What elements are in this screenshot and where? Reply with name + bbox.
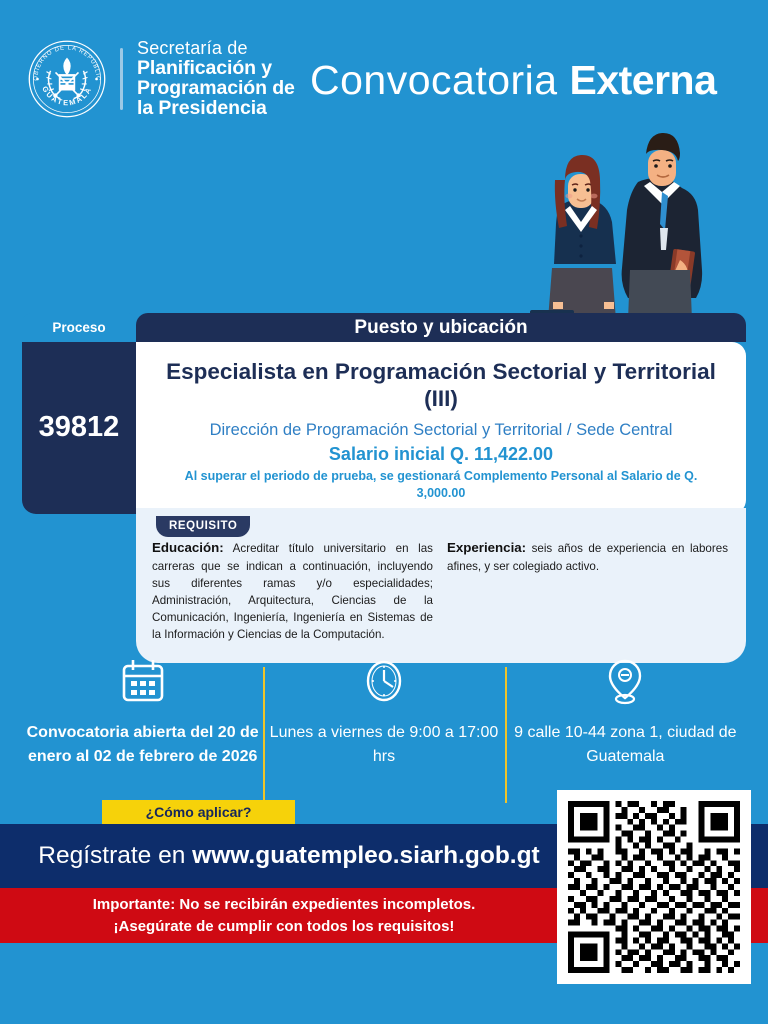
job-salary-note: Al superar el periodo de prueba, se gest…: [164, 468, 718, 502]
job-direction: Dirección de Programación Sectorial y Te…: [164, 421, 718, 440]
job-card-header-row: Proceso Puesto y ubicación: [22, 313, 746, 342]
info-text-hours: Lunes a viernes de 9:00 a 17:00 hrs: [263, 721, 504, 769]
requisito-panel: REQUISITO Educación: Acreditar título un…: [136, 508, 746, 663]
requisito-tag: REQUISITO: [156, 516, 250, 537]
register-url[interactable]: www.guatempleo.siarh.gob.gt: [192, 842, 540, 869]
puesto-ubicacion-header: Puesto y ubicación: [136, 313, 746, 342]
job-title: Especialista en Programación Sectorial y…: [164, 358, 718, 413]
education-requirement: Educación: Acreditar título universitari…: [152, 538, 433, 643]
two-professionals-illustration: [520, 110, 750, 320]
info-columns: Convocatoria abierta del 20 de enero al …: [22, 655, 746, 769]
job-card-body-row: 39812 Especialista en Programación Secto…: [22, 342, 746, 514]
info-column-address: 9 calle 10-44 zona 1, ciudad de Guatemal…: [505, 655, 746, 769]
secretaria-line-2: Planificación y: [137, 58, 295, 78]
secretaria-line-3: Programación de: [137, 78, 295, 98]
job-posting-poster: GOBIERNO DE LA REPÚBLICA GUATEMALA Secre…: [0, 0, 768, 1024]
secretaria-line-1: Secretaría de: [137, 39, 295, 58]
location-pin-icon: [600, 655, 650, 707]
register-prefix: Regístrate en: [38, 842, 192, 869]
qr-code-image: [568, 801, 740, 973]
secretaria-line-4: la Presidencia: [137, 98, 295, 118]
page-title-regular: Convocatoria: [310, 57, 558, 103]
page-title: Convocatoria Externa: [310, 57, 716, 104]
institutional-header: GOBIERNO DE LA REPÚBLICA GUATEMALA Secre…: [26, 38, 295, 120]
calendar-icon: [118, 655, 168, 707]
info-column-hours: Lunes a viernes de 9:00 a 17:00 hrs: [263, 655, 504, 769]
page-title-bold: Externa: [569, 57, 716, 103]
info-column-dates: Convocatoria abierta del 20 de enero al …: [22, 655, 263, 769]
education-text: Acreditar título universitario en las ca…: [152, 542, 433, 641]
info-text-address: 9 calle 10-44 zona 1, ciudad de Guatemal…: [505, 721, 746, 769]
how-to-apply-badge[interactable]: ¿Cómo aplicar?: [102, 800, 295, 824]
clock-icon: [359, 655, 409, 707]
important-line-1: Importante: No se recibirán expedientes …: [93, 894, 476, 916]
job-card: Proceso Puesto y ubicación 39812 Especia…: [22, 313, 746, 514]
info-text-dates: Convocatoria abierta del 20 de enero al …: [22, 721, 263, 769]
proceso-label: Proceso: [22, 313, 136, 342]
secretaria-name: Secretaría de Planificación y Programaci…: [137, 39, 295, 119]
important-line-2: ¡Asegúrate de cumplir con todos los requ…: [93, 916, 476, 938]
experience-label: Experiencia:: [447, 540, 526, 555]
header-divider: [120, 48, 123, 110]
qr-code[interactable]: [557, 790, 751, 984]
guatemala-government-seal-icon: GOBIERNO DE LA REPÚBLICA GUATEMALA: [26, 38, 108, 120]
experience-requirement: Experiencia: seis años de experiencia en…: [447, 538, 728, 643]
education-label: Educación:: [152, 540, 224, 555]
job-salary: Salario inicial Q. 11,422.00: [164, 444, 718, 465]
job-details: Especialista en Programación Sectorial y…: [136, 342, 746, 514]
proceso-number: 39812: [22, 342, 136, 514]
